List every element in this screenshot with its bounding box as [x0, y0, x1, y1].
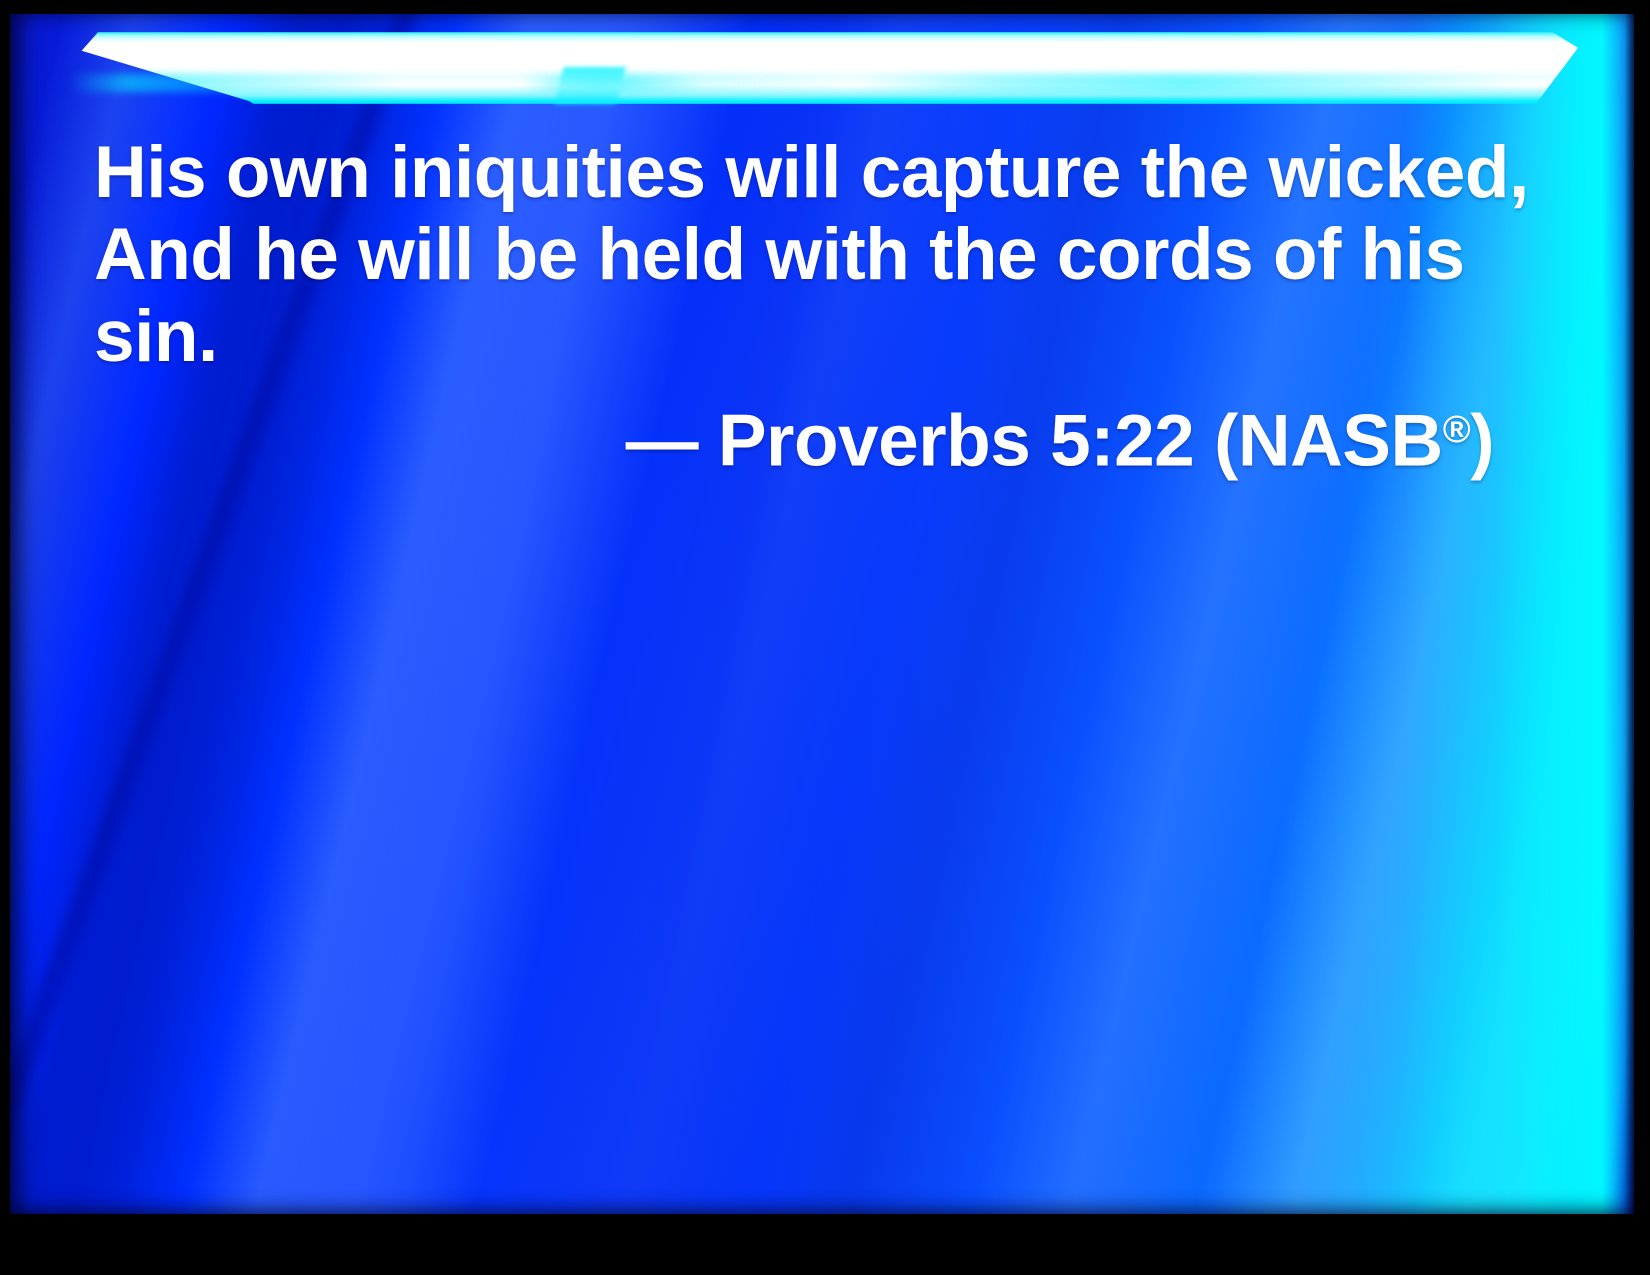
verse-line-3: sin.	[94, 296, 1514, 378]
top-banner	[68, 32, 1578, 104]
banner-shape	[68, 32, 1578, 104]
attribution-spacer-2	[1030, 401, 1050, 482]
attribution-dash: —	[626, 401, 699, 482]
attribution-translation-close: )	[1470, 401, 1494, 482]
attribution-reference: 5:22	[1050, 401, 1194, 482]
banner-cyan-glow	[68, 74, 1578, 93]
attribution-row: — Proverbs 5:22 (NASB®)	[94, 389, 1494, 483]
attribution-spacer-3	[1194, 401, 1214, 482]
verse-text-block: His own iniquities will capture the wick…	[94, 132, 1514, 378]
attribution-book: Proverbs	[718, 401, 1031, 482]
attribution-translation-open: (NASB	[1214, 401, 1443, 482]
banner-notch-accent	[554, 67, 625, 104]
registered-trademark-icon: ®	[1443, 409, 1470, 451]
verse-line-1: His own iniquities will capture the wick…	[94, 132, 1514, 214]
slide-frame: His own iniquities will capture the wick…	[0, 0, 1650, 1275]
verse-line-2: And he will be held with the cords of hi…	[94, 214, 1514, 296]
verse-attribution: — Proverbs 5:22 (NASB®)	[626, 389, 1494, 483]
attribution-spacer-1	[698, 401, 718, 482]
slide-canvas: His own iniquities will capture the wick…	[10, 14, 1634, 1214]
